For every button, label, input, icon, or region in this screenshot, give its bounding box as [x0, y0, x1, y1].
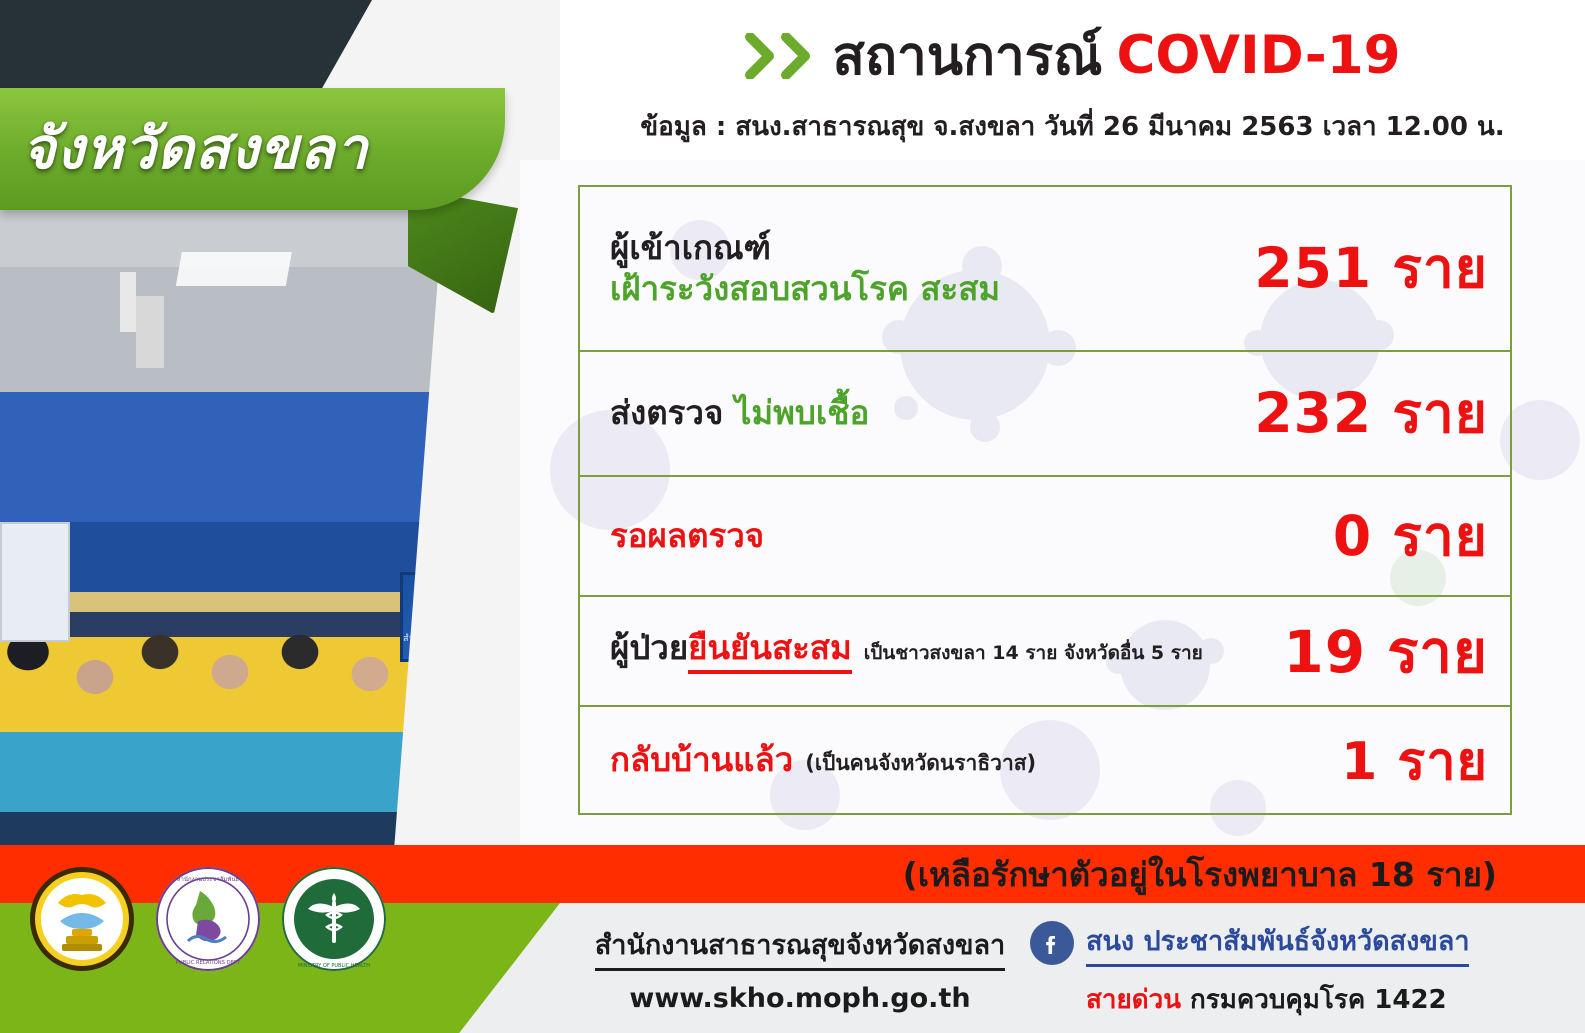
row-note: (เป็นคนจังหวัดนราธิวาส) [805, 747, 1036, 780]
province-ribbon: จังหวัดสงขลา [0, 88, 505, 210]
row-label-group: กลับบ้านแล้ว [610, 740, 793, 781]
province-label: จังหวัดสงขลา [22, 104, 368, 194]
footer-social-block: สนง ประชาสัมพันธ์จังหวัดสงขลา สายด่วน กร… [1030, 919, 1550, 1020]
svg-text:สำนักงานประชาสัมพันธ์: สำนักงานประชาสัมพันธ์ [177, 875, 240, 883]
row-label: ส่งตรวจ ไม่พบเชื้อ [610, 393, 869, 434]
stats-table: ผู้เข้าเกณฑ์ เฝ้าระวังสอบสวนโรค สะสม 251… [578, 185, 1512, 815]
row-label-green: ไม่พบเชื้อ [735, 393, 870, 432]
row-label-red: กลับบ้านแล้ว [610, 740, 793, 779]
songkhla-province-seal [28, 865, 136, 973]
facebook-icon[interactable] [1030, 921, 1074, 965]
row-label-dark: ส่งตรวจ [610, 393, 723, 432]
row-label: ผู้เข้าเกณฑ์ เฝ้าระวังสอบสวนโรค สะสม [610, 228, 1000, 310]
row-label-red: รอผลตรวจ [610, 516, 764, 555]
row-label: รอผลตรวจ [610, 516, 764, 557]
row-label: กลับบ้านแล้ว (เป็นคนจังหวัดนราธิวาส) [610, 740, 1036, 781]
footer: สำนักงานประชาสัมพันธ์ PUBLIC RELATIONS D… [0, 903, 1585, 1033]
double-chevron-right-icon [745, 33, 815, 79]
seal-group: สำนักงานประชาสัมพันธ์ PUBLIC RELATIONS D… [28, 865, 388, 973]
projection-screen [0, 522, 70, 642]
row-value: 251 ราย [1254, 225, 1488, 312]
hospitalized-text: (เหลือรักษาตัวอยู่ในโรงพยาบาล 18 ราย) [903, 848, 1497, 901]
facebook-row[interactable]: สนง ประชาสัมพันธ์จังหวัดสงขลา [1030, 919, 1550, 967]
row-note: เป็นชาวสงขลา 14 ราย จังหวัดอื่น 5 ราย [864, 638, 1203, 674]
org-name: สำนักงานสาธารณสุขจังหวัดสงขลา [595, 923, 1005, 971]
row-value: 232 ราย [1254, 370, 1488, 457]
table-row: รอผลตรวจ 0 ราย [580, 477, 1510, 597]
header-subtitle: ข้อมูล : สนง.สาธารณสุข จ.สงขลา วันที่ 26… [640, 106, 1504, 147]
row-value: 0 ราย [1333, 493, 1488, 580]
table-row: ผู้เข้าเกณฑ์ เฝ้าระวังสอบสวนโรค สะสม 251… [580, 187, 1510, 352]
seal-caption: MINISTRY OF PUBLIC HEALTH [298, 963, 370, 969]
seal-caption: PUBLIC RELATIONS DEPT [176, 960, 241, 966]
watermark-dot [1500, 400, 1580, 480]
page-title-thai: สถานการณ์ [833, 14, 1103, 98]
website-link[interactable]: www.skho.moph.go.th [585, 983, 1015, 1014]
hotline-label: สายด่วน [1086, 985, 1181, 1015]
facebook-page-name[interactable]: สนง ประชาสัมพันธ์จังหวัดสงขลา [1086, 919, 1469, 967]
hotline-text: กรมควบคุมโรค 1422 [1190, 985, 1447, 1015]
title-row: สถานการณ์ COVID-19 [745, 14, 1401, 98]
table-row: ส่งตรวจ ไม่พบเชื้อ 232 ราย [580, 352, 1510, 477]
public-relations-department-songkhla-seal: สำนักงานประชาสัมพันธ์ PUBLIC RELATIONS D… [154, 865, 262, 973]
row-label-dark: ผู้ป่วย [610, 628, 688, 667]
row-value: 19 ราย [1283, 605, 1488, 698]
dark-corner-block [0, 0, 372, 92]
footer-org-block: สำนักงานสาธารณสุขจังหวัดสงขลา www.skho.m… [585, 923, 1015, 1014]
row-label-group: ผู้ป่วยยืนยันสะสม [610, 628, 852, 675]
infographic-root: สำนักงานสาธารณสุขจังหวัดสงขลา จังหวัดสงข… [0, 0, 1585, 1033]
row-label: ผู้ป่วยยืนยันสะสม เป็นชาวสงขลา 14 ราย จั… [610, 628, 1203, 675]
table-row: ผู้ป่วยยืนยันสะสม เป็นชาวสงขลา 14 ราย จั… [580, 597, 1510, 707]
row-label-green: เฝ้าระวังสอบสวนโรค สะสม [610, 269, 1000, 310]
page-title-covid: COVID-19 [1116, 25, 1400, 86]
row-label-red: ยืนยันสะสม [688, 628, 852, 675]
table-row: กลับบ้านแล้ว (เป็นคนจังหวัดนราธิวาส) 1 ร… [580, 707, 1510, 813]
row-label-dark: ผู้เข้าเกณฑ์ [610, 228, 1000, 269]
header: สถานการณ์ COVID-19 ข้อมูล : สนง.สาธารณสุ… [560, 0, 1585, 160]
ministry-of-public-health-seal: MINISTRY OF PUBLIC HEALTH [280, 865, 388, 973]
hotline-row: สายด่วน กรมควบคุมโรค 1422 [1086, 979, 1550, 1020]
row-value: 1 ราย [1341, 719, 1488, 802]
